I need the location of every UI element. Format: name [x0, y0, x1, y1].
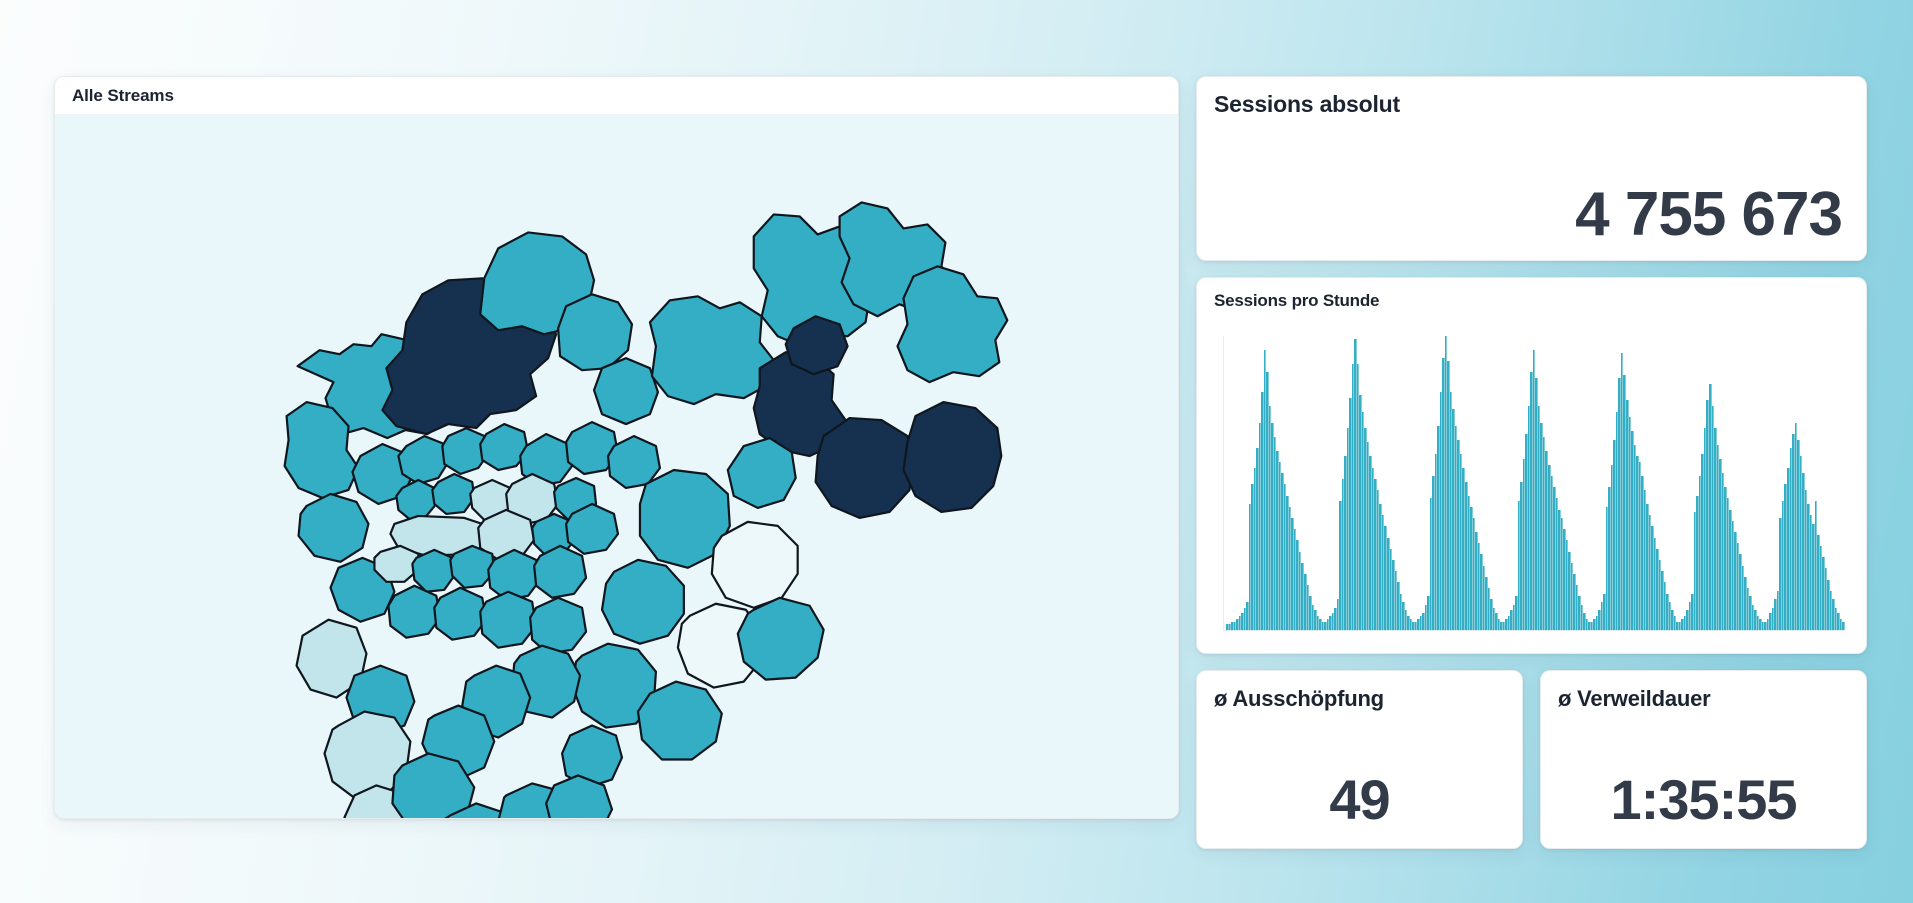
- map-region[interactable]: [299, 494, 369, 562]
- map-region[interactable]: [558, 294, 632, 370]
- card-sessions-absolut[interactable]: Sessions absolut 4 755 673: [1196, 76, 1867, 261]
- map-region[interactable]: [816, 418, 914, 518]
- map-region[interactable]: [728, 438, 796, 508]
- map-region[interactable]: [738, 598, 824, 680]
- card-sessions-pro-stunde[interactable]: Sessions pro Stunde: [1196, 277, 1867, 654]
- map-panel: Alle Streams: [54, 76, 1179, 819]
- card-ausschoepfung-value: 49: [1197, 772, 1522, 828]
- map-region[interactable]: [602, 560, 684, 644]
- map-region[interactable]: [530, 598, 586, 654]
- card-sessions-absolut-value: 4 755 673: [1575, 184, 1842, 246]
- map-region[interactable]: [650, 296, 774, 404]
- map-region[interactable]: [897, 266, 1007, 382]
- map-body: [55, 114, 1178, 818]
- card-sessions-pro-stunde-title: Sessions pro Stunde: [1214, 291, 1379, 311]
- map-region[interactable]: [398, 436, 448, 484]
- sessions-per-hour-chart[interactable]: [1223, 336, 1844, 631]
- chart-x-axis-line: [1223, 630, 1844, 631]
- map-region[interactable]: [638, 682, 722, 760]
- card-verweildauer[interactable]: ø Verweildauer 1:35:55: [1540, 670, 1867, 849]
- map-panel-header: Alle Streams: [55, 77, 1178, 114]
- nrw-choropleth-map[interactable]: [55, 114, 1178, 818]
- card-sessions-absolut-title: Sessions absolut: [1214, 91, 1400, 118]
- kpi-row: ø Ausschöpfung 49 ø Verweildauer 1:35:55: [1196, 670, 1867, 849]
- map-region[interactable]: [534, 546, 586, 598]
- map-region[interactable]: [903, 402, 1001, 512]
- dashboard: Alle Streams: [54, 76, 1867, 826]
- chart-y-axis-line: [1223, 336, 1224, 631]
- card-verweildauer-value: 1:35:55: [1541, 772, 1866, 828]
- map-region[interactable]: [412, 550, 454, 592]
- map-panel-title: Alle Streams: [72, 86, 174, 106]
- map-region[interactable]: [388, 586, 440, 638]
- chart-bars: [1226, 336, 1844, 630]
- map-region[interactable]: [434, 588, 486, 640]
- card-ausschoepfung[interactable]: ø Ausschöpfung 49: [1196, 670, 1523, 849]
- map-region[interactable]: [480, 592, 536, 648]
- card-verweildauer-title: ø Verweildauer: [1558, 686, 1711, 712]
- map-region[interactable]: [432, 474, 474, 514]
- map-region[interactable]: [594, 358, 658, 424]
- card-ausschoepfung-title: ø Ausschöpfung: [1214, 686, 1384, 712]
- map-region[interactable]: [450, 546, 494, 588]
- chart-bar: [1842, 622, 1845, 630]
- map-region[interactable]: [712, 522, 798, 608]
- kpi-column: Sessions absolut 4 755 673 Sessions pro …: [1196, 76, 1867, 826]
